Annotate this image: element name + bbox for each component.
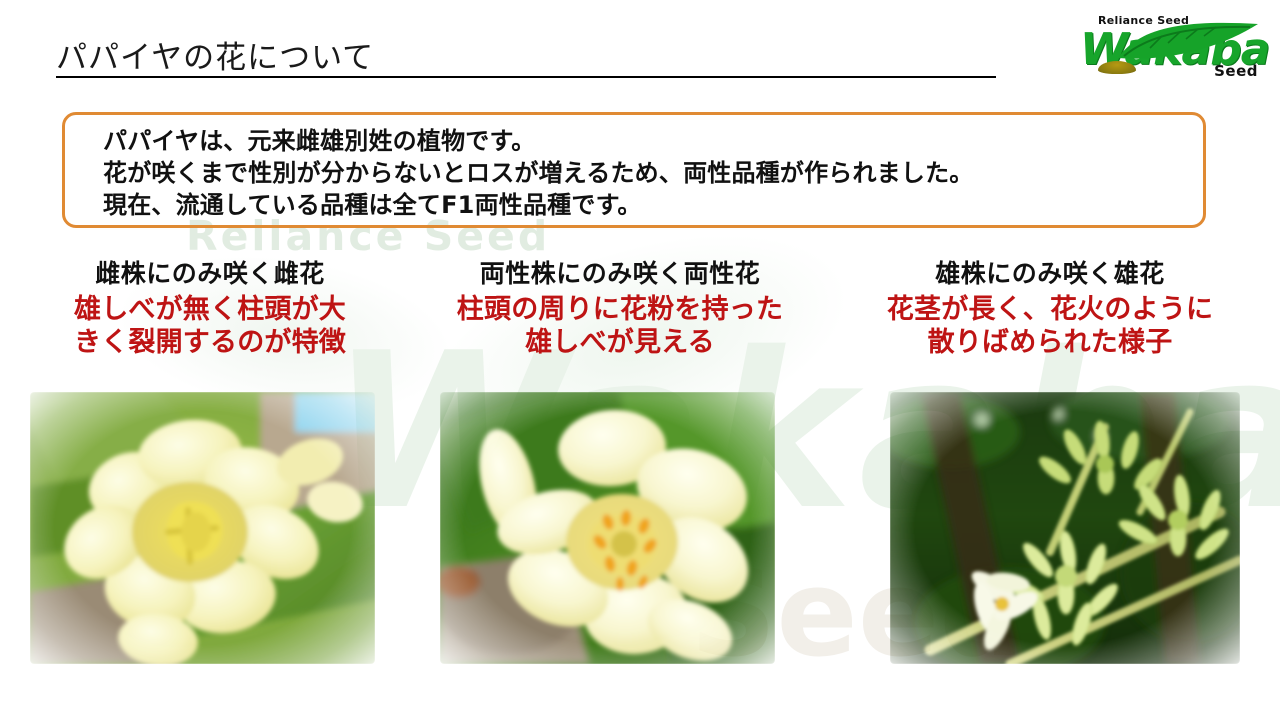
callout-line-3: 現在、流通している品種は全てF1両性品種です。 — [103, 189, 1193, 221]
column-3-heading: 雄株にのみ咲く雄花 — [840, 258, 1260, 290]
photo-male-flower — [890, 392, 1240, 664]
callout-text-block: パパイヤは、元来雌雄別姓の植物です。 花が咲くまで性別が分からないとロスが増える… — [103, 125, 1193, 221]
column-1-heading: 雌株にのみ咲く雌花 — [20, 258, 400, 290]
column-3-subtitle-line-2: 散りばめられた様子 — [840, 326, 1260, 359]
column-1-subtitle-line-1: 雄しべが無く柱頭が大 — [20, 293, 400, 326]
callout-line-2: 花が咲くまで性別が分からないとロスが増えるため、両性品種が作られました。 — [103, 157, 1193, 189]
column-2-subtitle-line-1: 柱頭の周りに花粉を持った — [420, 293, 820, 326]
column-male-flower: 雄株にのみ咲く雄花 花茎が長く、花火のように 散りばめられた様子 — [840, 258, 1260, 359]
logo-seed-text: Seed — [1214, 62, 1258, 80]
photo-hermaphrodite-flower — [440, 392, 775, 664]
wakaba-seed-logo: Reliance Seed Wakaba Seed — [1050, 12, 1262, 82]
column-3-subtitle-line-1: 花茎が長く、花火のように — [840, 293, 1260, 326]
column-2-heading: 両性株にのみ咲く両性花 — [420, 258, 820, 290]
photo-female-flower — [30, 392, 375, 664]
title-underline-rule — [56, 76, 996, 78]
column-1-subtitle-line-2: きく裂開するのが特徴 — [20, 326, 400, 359]
column-1-subtitle: 雄しべが無く柱頭が大 きく裂開するのが特徴 — [20, 293, 400, 359]
column-female-flower: 雌株にのみ咲く雌花 雄しべが無く柱頭が大 きく裂開するのが特徴 — [20, 258, 400, 359]
leaf-icon — [1110, 18, 1260, 64]
column-2-subtitle-line-2: 雄しべが見える — [420, 326, 820, 359]
column-hermaphrodite-flower: 両性株にのみ咲く両性花 柱頭の周りに花粉を持った 雄しべが見える — [420, 258, 820, 359]
column-2-subtitle: 柱頭の周りに花粉を持った 雄しべが見える — [420, 293, 820, 359]
logo-seed-mound — [1098, 61, 1136, 74]
intro-callout-box: パパイヤは、元来雌雄別姓の植物です。 花が咲くまで性別が分からないとロスが増える… — [62, 112, 1206, 228]
page-title: パパイヤの花について — [56, 32, 374, 77]
column-3-subtitle: 花茎が長く、花火のように 散りばめられた様子 — [840, 293, 1260, 359]
callout-line-1: パパイヤは、元来雌雄別姓の植物です。 — [103, 125, 1193, 157]
